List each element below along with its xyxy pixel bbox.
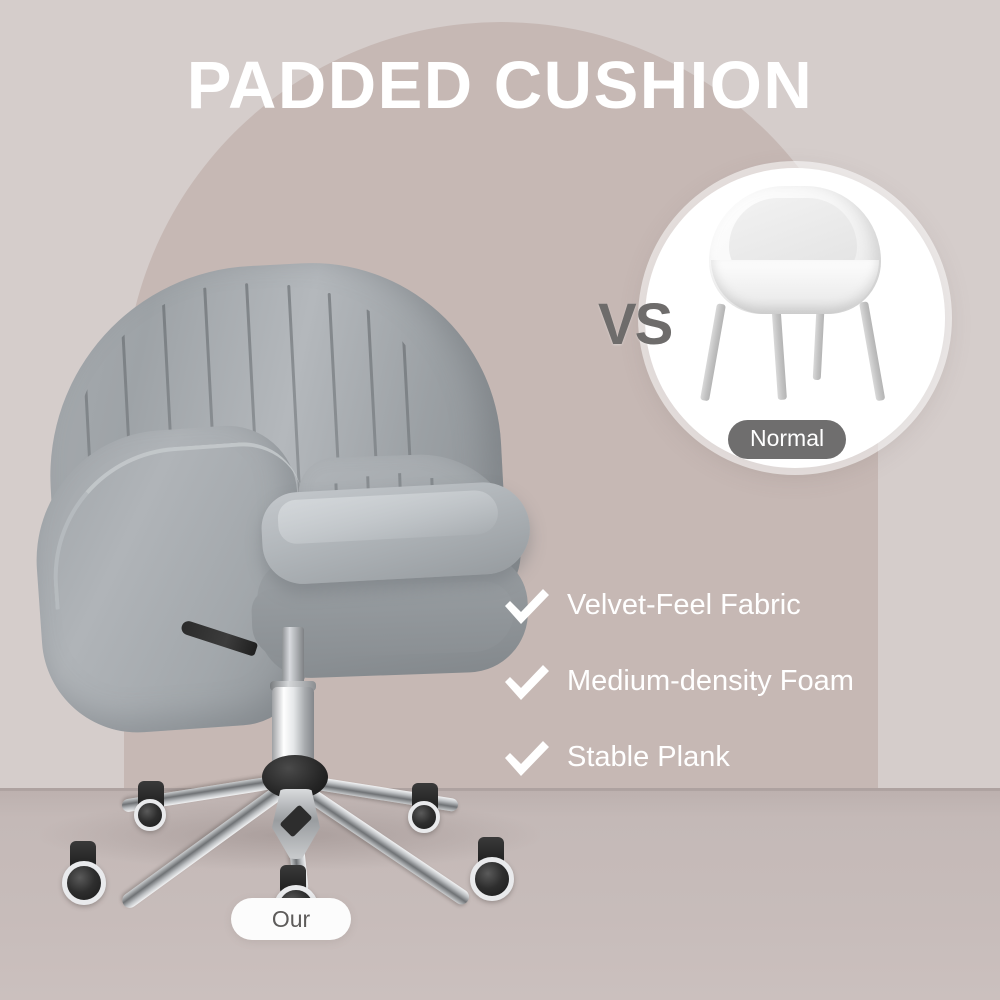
- feature-label: Velvet-Feel Fabric: [567, 589, 801, 622]
- normal-badge: Normal: [728, 420, 846, 459]
- product-marketing-image: PADDED CUSHION: [0, 0, 1000, 1000]
- our-chair-illustration: [30, 255, 550, 905]
- feature-label: Stable Plank: [567, 741, 730, 774]
- feature-list: Velvet-Feel Fabric Medium-density Foam S…: [503, 568, 973, 796]
- normal-chair-leg: [859, 301, 885, 401]
- check-icon: [503, 586, 551, 626]
- feature-item: Stable Plank: [503, 720, 973, 796]
- check-icon: [503, 738, 551, 778]
- caster-wheel-right-front: [470, 857, 514, 901]
- caster-wheel-left-back: [134, 799, 166, 831]
- normal-chair-leg: [771, 300, 787, 400]
- caster-wheel-left-front: [62, 861, 106, 905]
- feature-item: Velvet-Feel Fabric: [503, 568, 973, 644]
- normal-chair-leg: [700, 303, 726, 401]
- our-badge: Our: [231, 898, 351, 940]
- check-icon: [503, 662, 551, 702]
- caster-wheel-right-back: [408, 801, 440, 833]
- vs-label: VS: [598, 296, 671, 354]
- feature-item: Medium-density Foam: [503, 644, 973, 720]
- feature-label: Medium-density Foam: [567, 665, 854, 698]
- page-title: PADDED CUSHION: [0, 52, 1000, 119]
